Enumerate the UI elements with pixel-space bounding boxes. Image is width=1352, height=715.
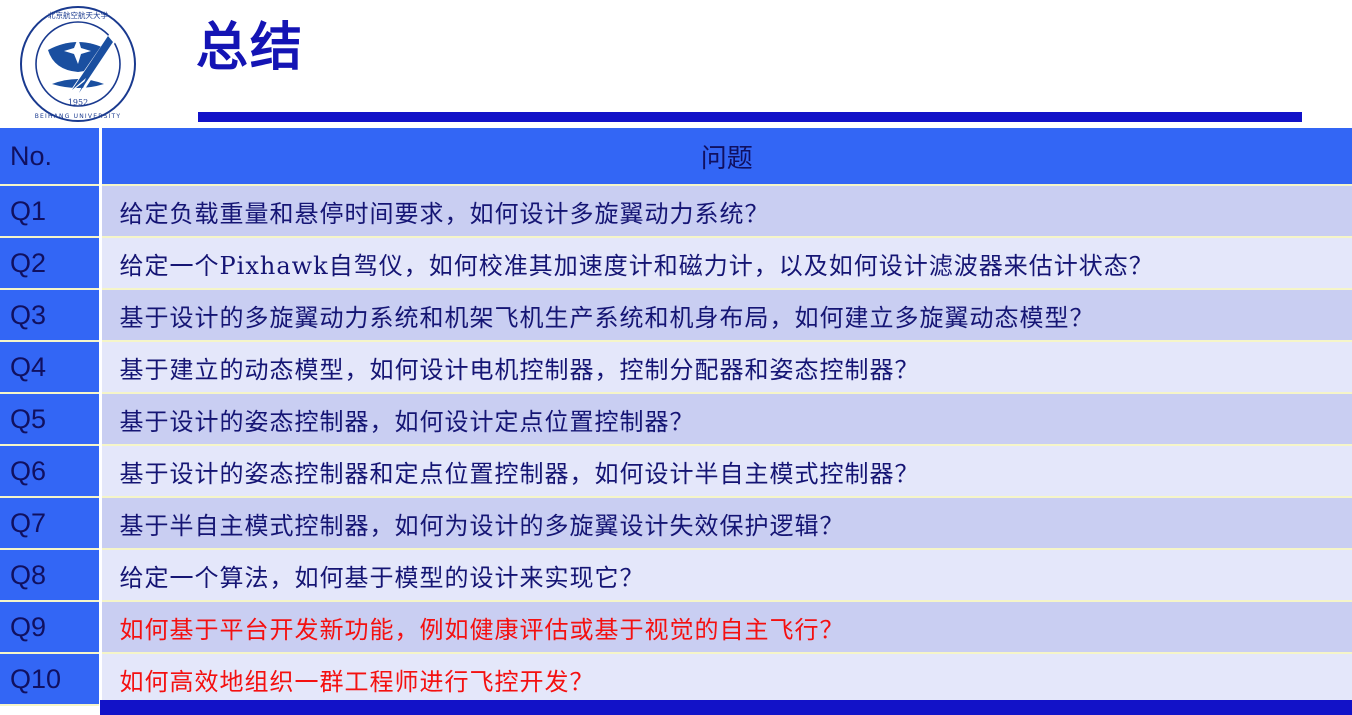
table-row: Q1 给定负载重量和悬停时间要求，如何设计多旋翼动力系统？: [0, 185, 1352, 237]
svg-text:北京航空航天大学: 北京航空航天大学: [48, 10, 108, 20]
row-question: 基于设计的姿态控制器和定点位置控制器，如何设计半自主模式控制器？: [100, 445, 1352, 497]
beihang-university-logo-icon: 1952 北京航空航天大学 BEIHANG UNIVERSITY: [18, 4, 138, 124]
row-no: Q3: [0, 289, 100, 341]
bottom-accent-bar: [100, 700, 1352, 715]
table-row: Q7 基于半自主模式控制器，如何为设计的多旋翼设计失效保护逻辑？: [0, 497, 1352, 549]
slide-header: 1952 北京航空航天大学 BEIHANG UNIVERSITY 总结: [0, 0, 1352, 128]
row-question: 基于建立的动态模型，如何设计电机控制器，控制分配器和姿态控制器？: [100, 341, 1352, 393]
title-underline: [198, 112, 1302, 122]
svg-text:BEIHANG UNIVERSITY: BEIHANG UNIVERSITY: [35, 113, 122, 120]
page-title: 总结: [196, 22, 304, 74]
row-no: Q9: [0, 601, 100, 653]
row-question: 基于设计的多旋翼动力系统和机架飞机生产系统和机身布局，如何建立多旋翼动态模型？: [100, 289, 1352, 341]
row-question: 给定一个Pixhawk自驾仪，如何校准其加速度计和磁力计，以及如何设计滤波器来估…: [100, 237, 1352, 289]
slide: 1952 北京航空航天大学 BEIHANG UNIVERSITY 总结 No. …: [0, 0, 1352, 715]
table-row: Q2 给定一个Pixhawk自驾仪，如何校准其加速度计和磁力计，以及如何设计滤波…: [0, 237, 1352, 289]
row-question: 如何基于平台开发新功能，例如健康评估或基于视觉的自主飞行？: [100, 601, 1352, 653]
row-no: Q6: [0, 445, 100, 497]
row-no: Q10: [0, 653, 100, 705]
row-no: Q7: [0, 497, 100, 549]
questions-table: No. 问题 Q1 给定负载重量和悬停时间要求，如何设计多旋翼动力系统？ Q2 …: [0, 128, 1352, 706]
row-question: 基于设计的姿态控制器，如何设计定点位置控制器？: [100, 393, 1352, 445]
table-header-row: No. 问题: [0, 128, 1352, 185]
row-no: Q4: [0, 341, 100, 393]
table-row: Q3 基于设计的多旋翼动力系统和机架飞机生产系统和机身布局，如何建立多旋翼动态模…: [0, 289, 1352, 341]
table-row: Q6 基于设计的姿态控制器和定点位置控制器，如何设计半自主模式控制器？: [0, 445, 1352, 497]
table-row: Q8 给定一个算法，如何基于模型的设计来实现它？: [0, 549, 1352, 601]
svg-text:1952: 1952: [68, 98, 88, 107]
row-no: Q1: [0, 185, 100, 237]
row-no: Q2: [0, 237, 100, 289]
table-row: Q10 如何高效地组织一群工程师进行飞控开发？: [0, 653, 1352, 705]
row-question: 给定负载重量和悬停时间要求，如何设计多旋翼动力系统？: [100, 185, 1352, 237]
row-no: Q8: [0, 549, 100, 601]
table-row: Q9 如何基于平台开发新功能，例如健康评估或基于视觉的自主飞行？: [0, 601, 1352, 653]
column-header-question: 问题: [100, 128, 1352, 185]
table-row: Q4 基于建立的动态模型，如何设计电机控制器，控制分配器和姿态控制器？: [0, 341, 1352, 393]
table-row: Q5 基于设计的姿态控制器，如何设计定点位置控制器？: [0, 393, 1352, 445]
row-question: 基于半自主模式控制器，如何为设计的多旋翼设计失效保护逻辑？: [100, 497, 1352, 549]
row-question: 给定一个算法，如何基于模型的设计来实现它？: [100, 549, 1352, 601]
row-no: Q5: [0, 393, 100, 445]
row-question: 如何高效地组织一群工程师进行飞控开发？: [100, 653, 1352, 705]
column-header-no: No.: [0, 128, 100, 185]
